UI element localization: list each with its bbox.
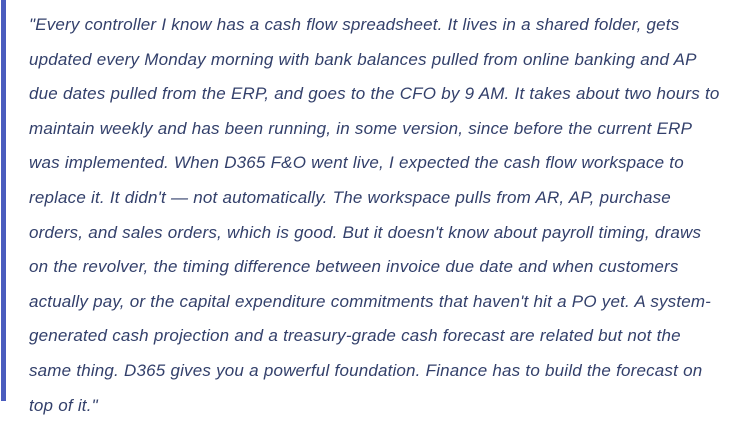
blockquote-accent-rule: [1, 0, 6, 401]
blockquote-container: "Every controller I know has a cash flow…: [0, 0, 748, 401]
blockquote-body: "Every controller I know has a cash flow…: [29, 0, 725, 401]
blockquote-text: "Every controller I know has a cash flow…: [29, 8, 725, 423]
